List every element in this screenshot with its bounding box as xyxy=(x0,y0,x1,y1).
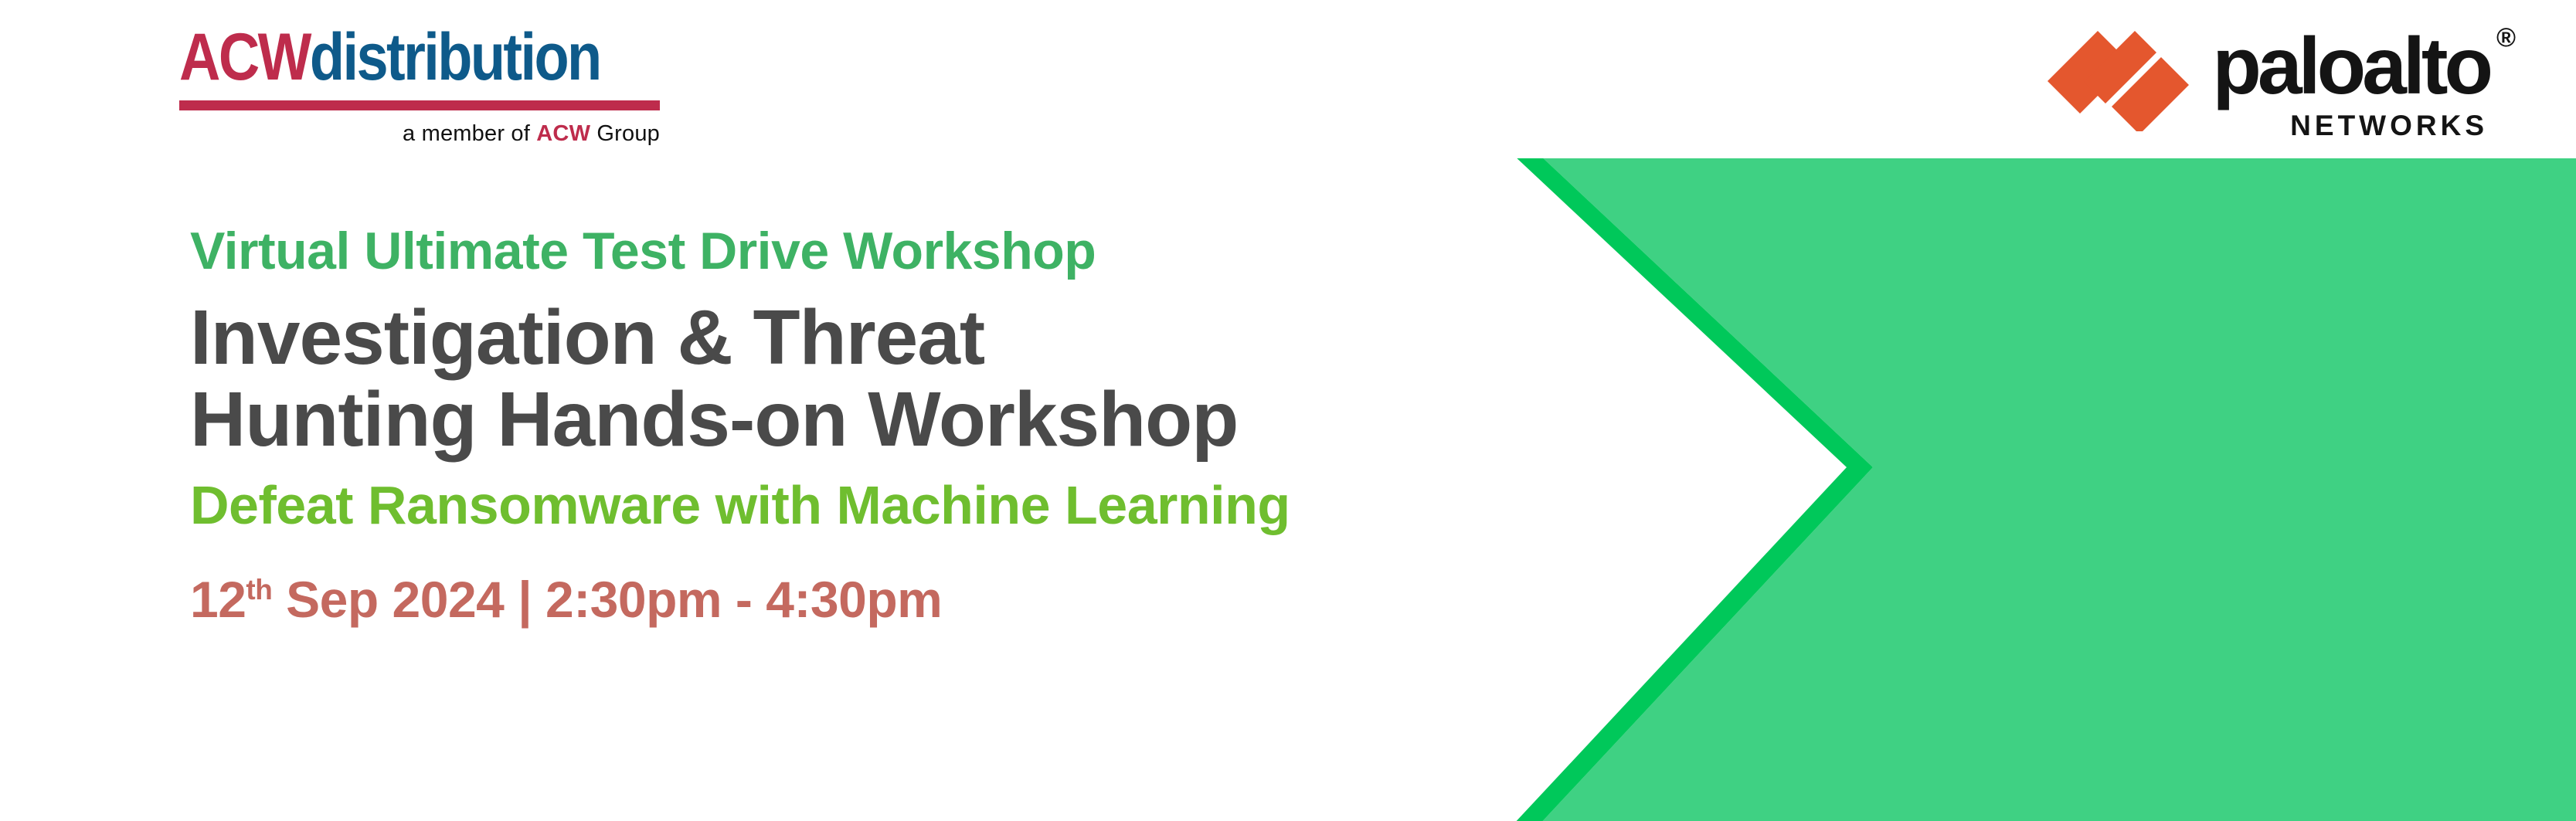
palo-alto-mark-svg xyxy=(2044,23,2192,131)
acw-member-tagline: a member of ACW Group xyxy=(179,121,660,147)
event-banner: ACWdistribution a member of ACW Group pa… xyxy=(0,0,2576,821)
chevron-band-1 xyxy=(1513,158,1873,821)
acw-logo-rule xyxy=(179,100,660,110)
chevron-band-8 xyxy=(2313,158,2576,821)
headline-line-1: Investigation & Threat xyxy=(190,297,1504,378)
chevron-band-7 xyxy=(2199,158,2576,821)
chevron-band-6 xyxy=(2085,158,2576,821)
chevron-band-2 xyxy=(1539,158,2576,821)
palo-alto-networks-logo: paloalto ® NETWORKS xyxy=(2044,23,2489,131)
chevron-band-4 xyxy=(1856,158,2576,821)
acw-member-prefix: a member of xyxy=(403,121,536,146)
acw-wordmark: ACWdistribution xyxy=(179,22,593,93)
event-date-rest: Sep 2024 | 2:30pm - 4:30pm xyxy=(272,571,942,628)
acw-member-suffix: Group xyxy=(590,121,660,146)
registered-trademark-icon: ® xyxy=(2496,25,2516,51)
banner-text-block: Virtual Ultimate Test Drive Workshop Inv… xyxy=(190,222,1504,627)
acw-wordmark-distribution: distribution xyxy=(310,20,600,94)
palo-alto-mark-icon xyxy=(2044,23,2192,131)
headline-line-2: Hunting Hands-on Workshop xyxy=(190,378,1504,460)
chevron-graphic-svg xyxy=(1453,158,2576,821)
acw-distribution-logo: ACWdistribution a member of ACW Group xyxy=(179,22,660,157)
event-datetime: 12th Sep 2024 | 2:30pm - 4:30pm xyxy=(190,572,1504,627)
event-date-day: 12 xyxy=(190,571,246,628)
acw-wordmark-acw: ACW xyxy=(179,20,310,94)
palo-alto-networks-subwordmark: NETWORKS xyxy=(2212,111,2489,141)
chevron-graphic xyxy=(1453,158,2576,821)
eyebrow-text: Virtual Ultimate Test Drive Workshop xyxy=(190,222,1504,280)
palo-alto-wordmark-wrap: paloalto ® NETWORKS xyxy=(2212,23,2489,141)
chevron-band-3 xyxy=(1742,158,2576,821)
acw-member-brand: ACW xyxy=(536,121,590,146)
chevron-band-9 xyxy=(2428,158,2576,821)
subheadline-text: Defeat Ransomware with Machine Learning xyxy=(190,476,1504,534)
chevron-band-5 xyxy=(1970,158,2576,821)
page-title: Investigation & Threat Hunting Hands-on … xyxy=(190,297,1504,460)
event-date-ordinal: th xyxy=(246,574,272,606)
palo-alto-wordmark: paloalto xyxy=(2212,26,2489,107)
